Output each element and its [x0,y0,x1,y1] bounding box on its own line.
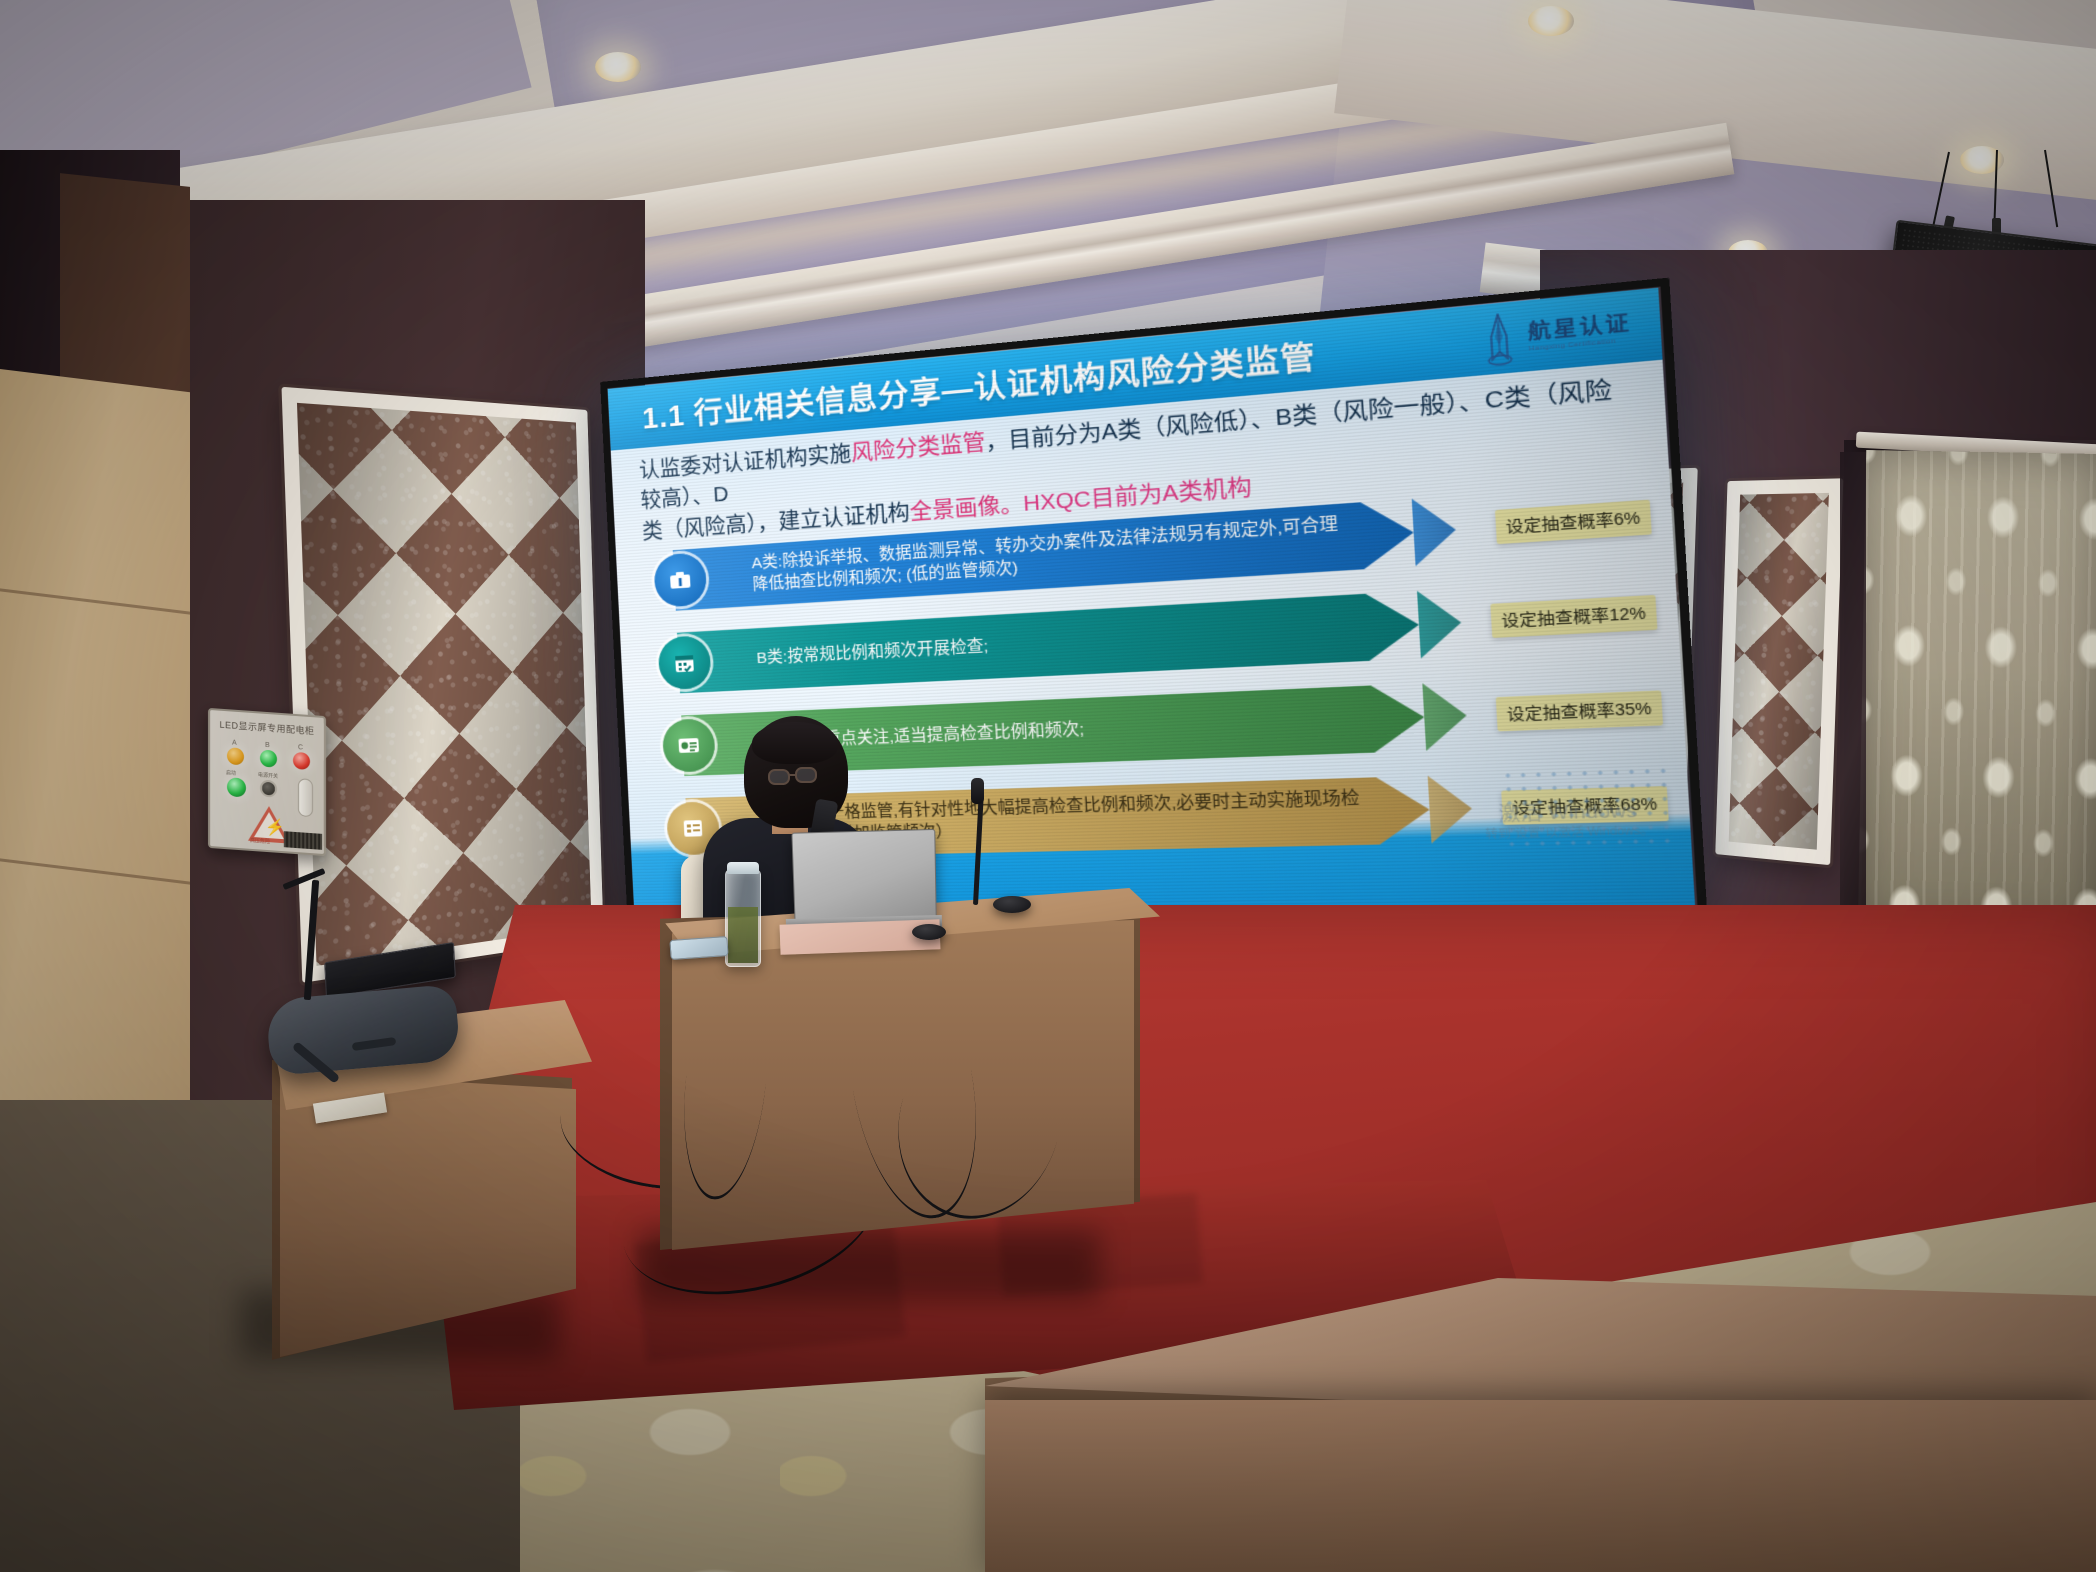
glasses-left-lens [768,769,790,785]
lamp-label-c: C [298,744,303,751]
window-left-edge [1840,452,1866,938]
indicator-lamp-a [227,747,244,765]
start-button[interactable] [227,777,246,797]
downlight-icon [595,52,641,82]
panel-shading [297,403,592,966]
curtain-damask-pattern [1858,450,2096,940]
badge-b: 设定抽查概率12% [1490,595,1657,638]
indicator-lamp-c [293,752,310,770]
body-line1-highlight: 风险分类监管 [850,430,986,465]
desk-mic-base-left [912,924,946,940]
downlight-icon [1528,6,1574,36]
damask-sheer-curtain [1858,450,2096,940]
laptop-lid[interactable] [791,829,936,924]
decorative-wall-panel-left [281,387,603,983]
panel-shading [1729,493,1829,850]
start-button-label: 启动 [226,769,236,777]
glasses-bridge [789,774,797,776]
body-line1-a: 认监委对认证机构实施 [638,441,851,482]
badge-c: 设定抽查概率35% [1496,690,1663,731]
presenter-bangs [752,722,838,764]
row-chevron-d [1428,774,1474,843]
cabinet-vent [284,831,322,850]
rocket-logo-icon [1476,311,1522,367]
desk-mic-capsule [971,778,984,804]
decorative-wall-panel-right-2 [1715,478,1843,865]
led-power-cabinet[interactable]: LED显示屏专用配电柜 A B C 启动 电源开关 ⚡ 高压危险 [208,708,326,856]
lamp-label-a: A [232,740,237,747]
breaker-switch[interactable] [298,778,313,817]
foreground-table-front-drape [985,1400,2096,1572]
bottle-cap [727,862,759,874]
lamp-label-b: B [265,742,270,749]
power-cabinet-title: LED显示屏专用配电柜 [210,717,324,738]
conference-room-photo: LED显示屏专用配电柜 A B C 启动 电源开关 ⚡ 高压危险 1.1 行业相… [0,0,2096,1572]
row-chevron-c [1422,681,1468,750]
warning-label: 高压危险 [250,837,270,845]
badge-a: 设定抽查概率6% [1495,500,1652,545]
glasses-right-lens [795,767,817,783]
bottle-contents [728,907,758,963]
decorative-dots [1500,764,1673,851]
desk-mic-base-right [993,896,1031,913]
row-chevron-a [1412,496,1458,566]
power-knob[interactable] [260,780,277,798]
row-text-b: B类:按常规比例和频次开展检查; [756,636,989,670]
knob-label: 电源开关 [258,771,278,779]
body-line2-highlight-1: 全景画像。 [909,492,1024,525]
indicator-lamp-b [260,750,277,768]
water-bottle [725,869,761,967]
row-chevron-b [1417,589,1463,659]
phone-on-podium [669,936,728,960]
